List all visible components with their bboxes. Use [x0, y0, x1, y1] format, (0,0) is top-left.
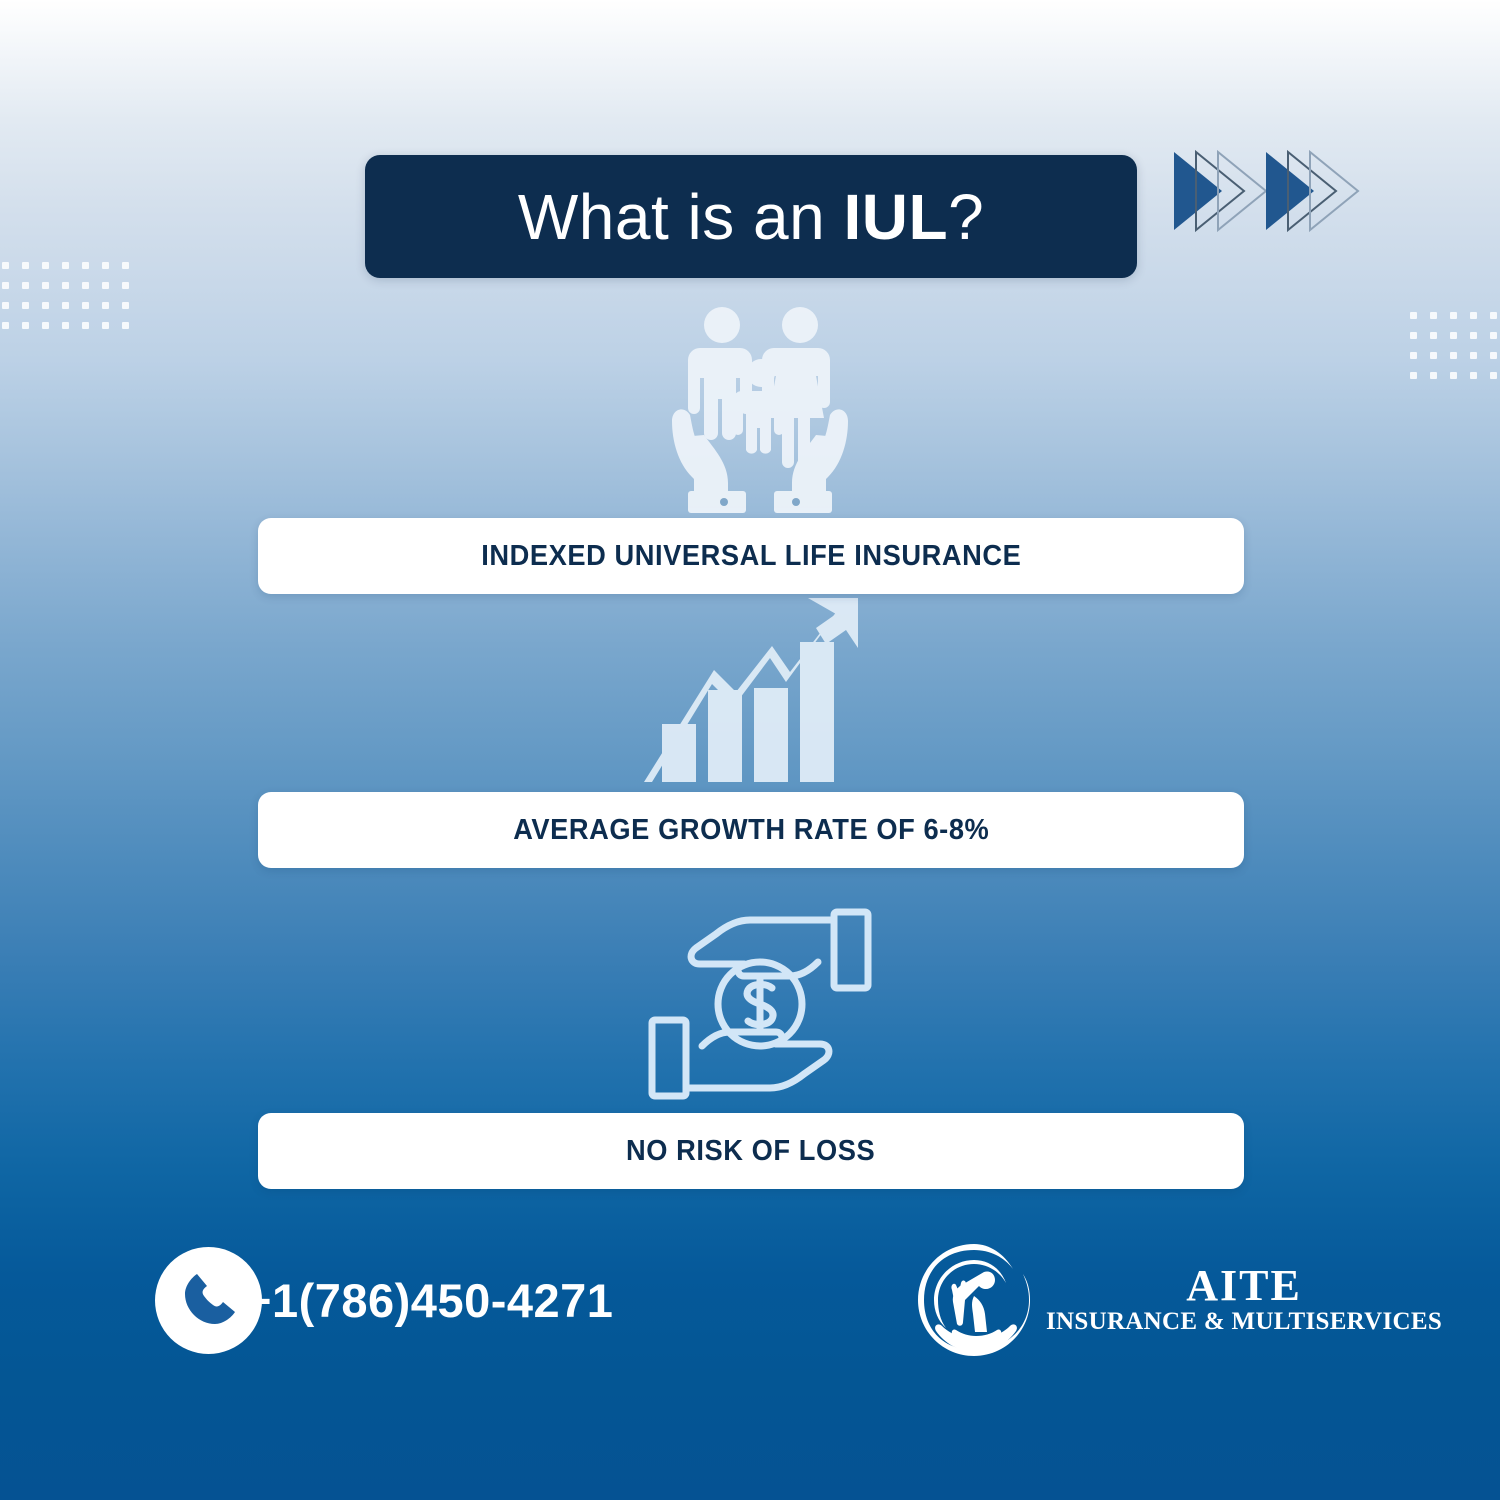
dot [22, 282, 29, 289]
dot [82, 262, 89, 269]
dot [102, 262, 109, 269]
dot [1410, 372, 1417, 379]
dot [62, 262, 69, 269]
dot [1450, 312, 1457, 319]
dot [2, 282, 9, 289]
dot [82, 282, 89, 289]
dot [1470, 312, 1477, 319]
page-title: What is an IUL? [518, 185, 984, 249]
double-chevron-arrows-icon [1166, 146, 1366, 238]
contact-phone-block[interactable]: +1(786)450-4271 [155, 1242, 613, 1358]
dot [1450, 332, 1457, 339]
company-tagline: INSURANCE & MULTISERVICES [1046, 1308, 1442, 1337]
dot [122, 302, 129, 309]
dot [2, 322, 9, 329]
dot [42, 322, 49, 329]
dot [82, 302, 89, 309]
dot [122, 282, 129, 289]
dot [1430, 352, 1437, 359]
dot [1450, 352, 1457, 359]
feature-label-text-2: AVERAGE GROWTH RATE OF 6-8% [513, 816, 989, 845]
dot [122, 322, 129, 329]
dot [1450, 372, 1457, 379]
feature-label-text-3: NO RISK OF LOSS [626, 1137, 875, 1166]
dot [42, 282, 49, 289]
dot [1430, 332, 1437, 339]
title-emphasis: IUL [843, 181, 948, 253]
dot [62, 282, 69, 289]
dot [122, 262, 129, 269]
dot [1410, 352, 1417, 359]
growth-bar-chart-arrow-icon [640, 596, 880, 788]
title-plain-after: ? [948, 181, 984, 253]
circle-hand-figure-logo-icon [912, 1238, 1036, 1362]
dot [1470, 332, 1477, 339]
dot [1490, 332, 1497, 339]
dot [42, 262, 49, 269]
dot [62, 322, 69, 329]
dot-grid-left-decoration [2, 262, 129, 329]
dot [1430, 312, 1437, 319]
dot [1410, 332, 1417, 339]
dot [1470, 352, 1477, 359]
dot [22, 322, 29, 329]
dot [1410, 312, 1417, 319]
title-banner: What is an IUL? [365, 155, 1137, 278]
dot [102, 282, 109, 289]
dot [22, 302, 29, 309]
dot [82, 322, 89, 329]
company-logo-wordmark: AITE INSURANCE & MULTISERVICES [1046, 1264, 1442, 1337]
dot [2, 302, 9, 309]
dot [2, 262, 9, 269]
feature-label-text-1: INDEXED UNIVERSAL LIFE INSURANCE [481, 542, 1021, 571]
family-in-hands-icon [660, 303, 860, 515]
dot [1490, 312, 1497, 319]
phone-number-text: +1(786)450-4271 [244, 1277, 613, 1324]
dot [102, 302, 109, 309]
company-name: AITE [1186, 1264, 1302, 1308]
poster-canvas: What is an IUL? [0, 0, 1500, 1500]
dot [102, 322, 109, 329]
dot [62, 302, 69, 309]
dot [1430, 372, 1437, 379]
company-logo-block: AITE INSURANCE & MULTISERVICES [912, 1238, 1442, 1362]
hands-with-dollar-coin-icon [640, 898, 880, 1110]
feature-label-bar-3: NO RISK OF LOSS [258, 1113, 1244, 1189]
dot [1490, 372, 1497, 379]
dot [1470, 372, 1477, 379]
feature-label-bar-2: AVERAGE GROWTH RATE OF 6-8% [258, 792, 1244, 868]
dot-grid-right-decoration [1410, 312, 1500, 379]
title-plain-before: What is an [518, 181, 844, 253]
dot [42, 302, 49, 309]
dot [1490, 352, 1497, 359]
dot [22, 262, 29, 269]
feature-label-bar-1: INDEXED UNIVERSAL LIFE INSURANCE [258, 518, 1244, 594]
